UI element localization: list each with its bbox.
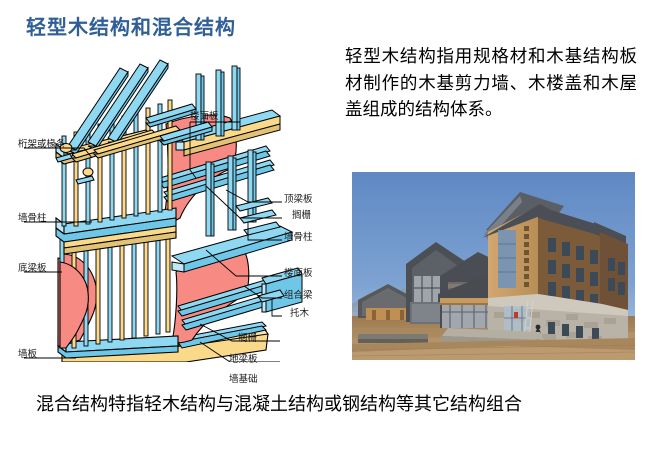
diagram-label-sill-plate: 地梁板	[229, 351, 258, 365]
slide-root: 轻型木结构和混合结构 轻型木结构指用规格材和木基结构板材制作的木基剪力墙、木楼盖…	[0, 0, 668, 457]
diagram-label-joist-lower: 搁栅	[238, 330, 257, 344]
diagram-label-joist-upper: 搁栅	[292, 207, 311, 221]
bottom-caption: 混合结构特指轻木结构与混凝土结构或钢结构等其它结构组合	[36, 390, 636, 416]
intro-paragraph: 轻型木结构指用规格材和木基结构板材制作的木基剪力墙、木楼盖和木屋盖组成的结构体系…	[345, 44, 637, 124]
diagram-label-wall-panel: 墙板	[18, 346, 37, 360]
diagram-label-foundation: 墙基础	[229, 371, 258, 385]
building-photo-svg	[352, 172, 635, 360]
construction-diagram: 桁架或椽条 墙骨柱 底梁板 墙板 楼面板 顶梁板 搁栅 墙骨柱 楼面板 组合梁 …	[0, 50, 334, 362]
diagram-label-built-up-beam: 组合梁	[284, 287, 313, 301]
diagram-label-ledger: 托木	[290, 305, 309, 319]
diagram-label-floor-sheathing-mid: 楼面板	[284, 265, 313, 279]
diagram-label-stud-left: 墙骨柱	[18, 210, 47, 224]
diagram-label-top-plate: 顶梁板	[284, 191, 313, 205]
page-title: 轻型木结构和混合结构	[26, 11, 236, 40]
diagram-label-truss-rafter: 桁架或椽条	[18, 136, 66, 150]
diagram-label-bottom-plate: 底梁板	[18, 260, 47, 274]
building-photo	[352, 172, 635, 360]
diagram-svg	[0, 50, 334, 362]
diagram-label-floor-sheathing-top: 楼面板	[190, 108, 219, 122]
diagram-label-stud-right: 墙骨柱	[284, 229, 313, 243]
